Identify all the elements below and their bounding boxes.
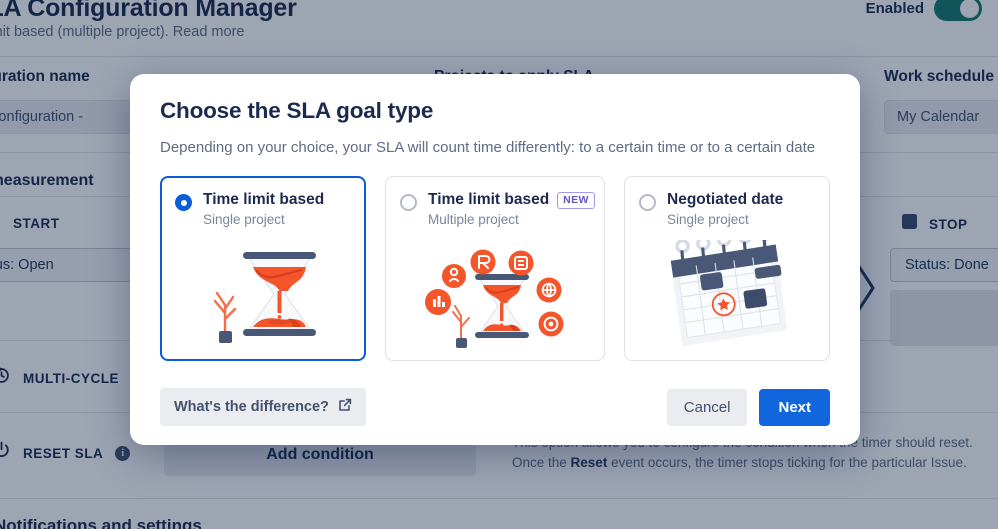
goal-type-card-time-limit-multi[interactable]: Time limit based NEW Multiple project [385,176,605,361]
sla-goal-type-dialog: Choose the SLA goal type Depending on yo… [130,74,860,445]
card-title: Time limit based [428,191,549,209]
dialog-title: Choose the SLA goal type [160,98,830,124]
dialog-footer: What's the difference? Cancel Next [160,388,830,426]
card-header: Time limit based Single project [175,191,351,227]
card-text-block: Negotiated date Single project [667,191,783,227]
radio-time-limit-single[interactable] [175,194,192,211]
radio-time-limit-multi[interactable] [400,194,417,211]
card-text-block: Time limit based Single project [203,191,324,227]
card-subtitle: Single project [203,212,324,227]
footer-actions: Cancel Next [667,389,830,426]
card-title-row: Time limit based [203,191,324,209]
card-title: Negotiated date [667,191,783,209]
radio-negotiated-date[interactable] [639,194,656,211]
cancel-button[interactable]: Cancel [667,389,748,426]
goal-type-card-negotiated-date[interactable]: Negotiated date Single project [624,176,830,361]
whats-the-difference-button[interactable]: What's the difference? [160,388,366,426]
whats-the-difference-label: What's the difference? [174,399,329,415]
card-subtitle: Multiple project [428,212,590,227]
card-title-row: Negotiated date [667,191,783,209]
card-header: Time limit based NEW Multiple project [400,191,590,227]
goal-type-card-list: Time limit based Single project [160,176,830,361]
card-text-block: Time limit based NEW Multiple project [428,191,590,227]
card-title-row: Time limit based NEW [428,191,590,209]
dialog-description: Depending on your choice, your SLA will … [160,136,830,159]
card-header: Negotiated date Single project [639,191,815,227]
external-link-icon [338,398,352,416]
hourglass-single-illustration [162,239,364,351]
next-button[interactable]: Next [759,389,830,426]
card-title: Time limit based [203,191,324,209]
goal-type-card-time-limit-single[interactable]: Time limit based Single project [160,176,366,361]
hourglass-multi-illustration [386,240,604,352]
new-badge: NEW [557,192,595,209]
calendar-illustration [625,240,829,352]
card-subtitle: Single project [667,212,783,227]
